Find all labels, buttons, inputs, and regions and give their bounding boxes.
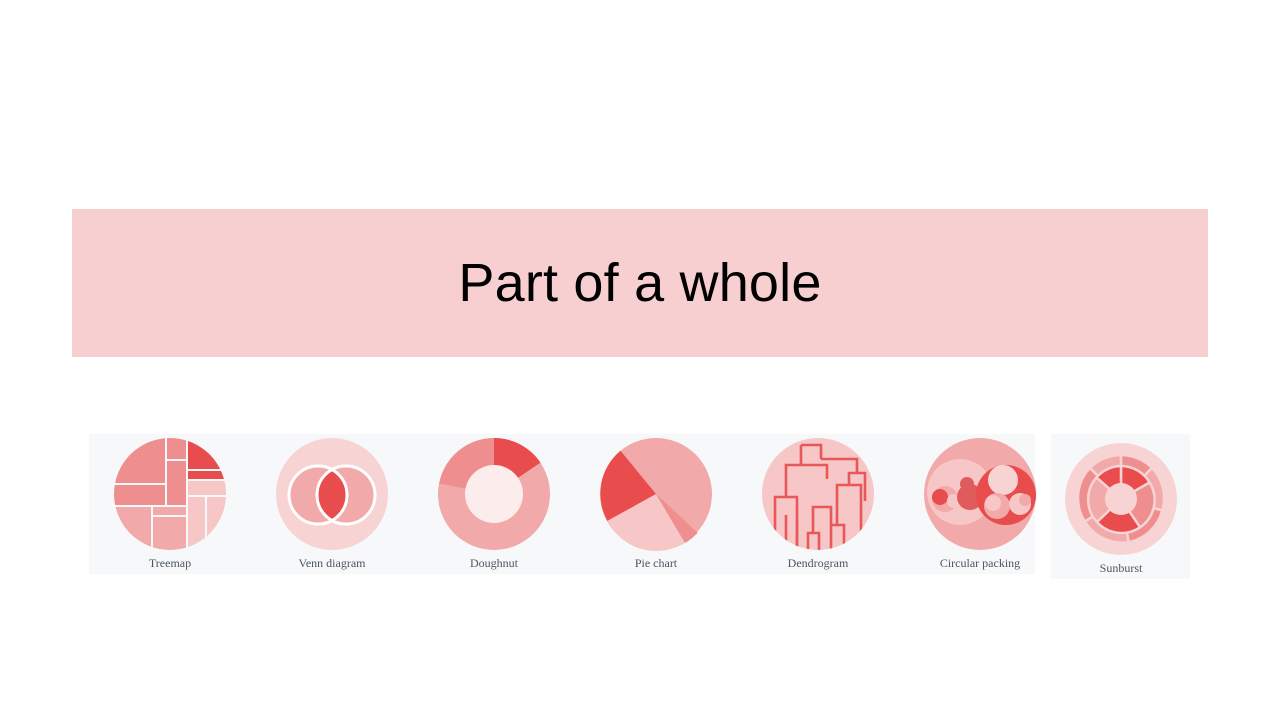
chart-type-label: Doughnut bbox=[413, 556, 575, 571]
title-banner: Part of a whole bbox=[72, 209, 1208, 357]
chart-type-label: Circular packing bbox=[899, 556, 1061, 571]
chart-type-label: Pie chart bbox=[575, 556, 737, 571]
chart-type-dendrogram[interactable]: Dendrogram bbox=[737, 434, 899, 574]
chart-type-gallery: Treemap bbox=[89, 434, 1190, 579]
dendrogram-icon bbox=[761, 437, 875, 551]
chart-type-sunburst[interactable]: Sunburst bbox=[1040, 434, 1202, 574]
chart-type-label: Venn diagram bbox=[251, 556, 413, 571]
sunburst-icon bbox=[1064, 442, 1178, 556]
page-title: Part of a whole bbox=[458, 256, 821, 310]
treemap-icon bbox=[113, 437, 227, 551]
chart-type-label: Dendrogram bbox=[737, 556, 899, 571]
chart-type-venn-diagram[interactable]: Venn diagram bbox=[251, 434, 413, 574]
venn-diagram-icon bbox=[275, 437, 389, 551]
chart-type-label: Sunburst bbox=[1040, 561, 1202, 576]
chart-type-pie-chart[interactable]: Pie chart bbox=[575, 434, 737, 574]
circular-packing-icon bbox=[923, 437, 1037, 551]
pie-chart-icon bbox=[599, 437, 713, 551]
doughnut-icon bbox=[437, 437, 551, 551]
chart-type-label: Treemap bbox=[89, 556, 251, 571]
chart-type-treemap[interactable]: Treemap bbox=[89, 434, 251, 574]
chart-type-doughnut[interactable]: Doughnut bbox=[413, 434, 575, 574]
chart-type-circular-packing[interactable]: Circular packing bbox=[899, 434, 1061, 574]
slide: Part of a whole bbox=[0, 0, 1280, 720]
